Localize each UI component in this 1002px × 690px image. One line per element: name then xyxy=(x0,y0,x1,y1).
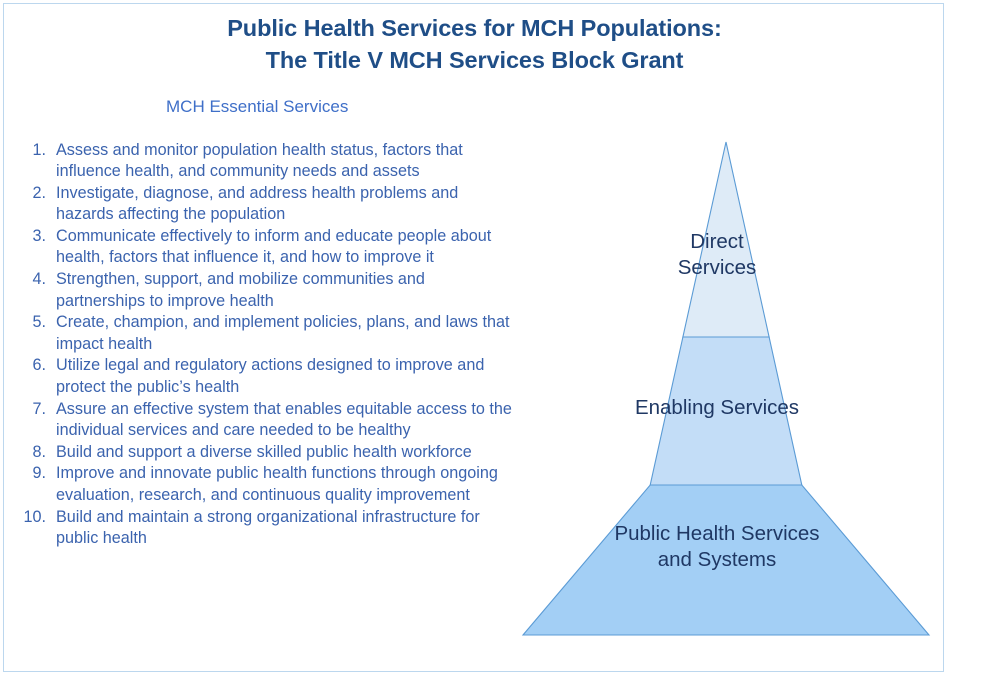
list-item-number: 1. xyxy=(12,140,46,161)
list-item: 7. Assure an effective system that enabl… xyxy=(12,399,512,442)
list-item: 10. Build and maintain a strong organiza… xyxy=(12,507,512,550)
list-item-number: 9. xyxy=(12,463,46,484)
list-item-text: Investigate, diagnose, and address healt… xyxy=(56,183,512,226)
page-title: Public Health Services for MCH Populatio… xyxy=(4,12,945,76)
services-pyramid-diagram: Direct Services Enabling Services Public… xyxy=(509,132,941,648)
pyramid-svg xyxy=(509,132,941,648)
list-item: 8. Build and support a diverse skilled p… xyxy=(12,442,512,463)
section-subtitle: MCH Essential Services xyxy=(166,96,348,118)
pyramid-tier-enabling xyxy=(650,337,802,485)
list-item-number: 8. xyxy=(12,442,46,463)
page-title-line-2: The Title V MCH Services Block Grant xyxy=(4,44,945,76)
list-item-text: Assure an effective system that enables … xyxy=(56,399,512,442)
list-item-number: 7. xyxy=(12,399,46,420)
list-item: 9. Improve and innovate public health fu… xyxy=(12,463,512,506)
list-item-text: Build and support a diverse skilled publ… xyxy=(56,442,512,463)
page-title-line-1: Public Health Services for MCH Populatio… xyxy=(4,12,945,44)
list-item-number: 2. xyxy=(12,183,46,204)
list-item: 1. Assess and monitor population health … xyxy=(12,140,512,183)
list-item-number: 5. xyxy=(12,312,46,333)
list-item: 2. Investigate, diagnose, and address he… xyxy=(12,183,512,226)
list-item-number: 6. xyxy=(12,355,46,376)
pyramid-tier-base xyxy=(523,485,929,635)
list-item-number: 10. xyxy=(12,507,46,528)
pyramid-tier-direct xyxy=(683,142,769,337)
list-item-text: Utilize legal and regulatory actions des… xyxy=(56,355,512,398)
list-item: 5. Create, champion, and implement polic… xyxy=(12,312,512,355)
list-item-text: Strengthen, support, and mobilize commun… xyxy=(56,269,512,312)
list-item-text: Communicate effectively to inform and ed… xyxy=(56,226,512,269)
slide-frame: Public Health Services for MCH Populatio… xyxy=(3,3,944,672)
list-item-text: Build and maintain a strong organization… xyxy=(56,507,512,550)
list-item: 6. Utilize legal and regulatory actions … xyxy=(12,355,512,398)
list-item: 3. Communicate effectively to inform and… xyxy=(12,226,512,269)
list-item-text: Create, champion, and implement policies… xyxy=(56,312,512,355)
list-item-number: 4. xyxy=(12,269,46,290)
list-item: 4. Strengthen, support, and mobilize com… xyxy=(12,269,512,312)
essential-services-list: 1. Assess and monitor population health … xyxy=(12,140,512,550)
list-item-text: Assess and monitor population health sta… xyxy=(56,140,512,183)
list-item-number: 3. xyxy=(12,226,46,247)
list-item-text: Improve and innovate public health funct… xyxy=(56,463,512,506)
